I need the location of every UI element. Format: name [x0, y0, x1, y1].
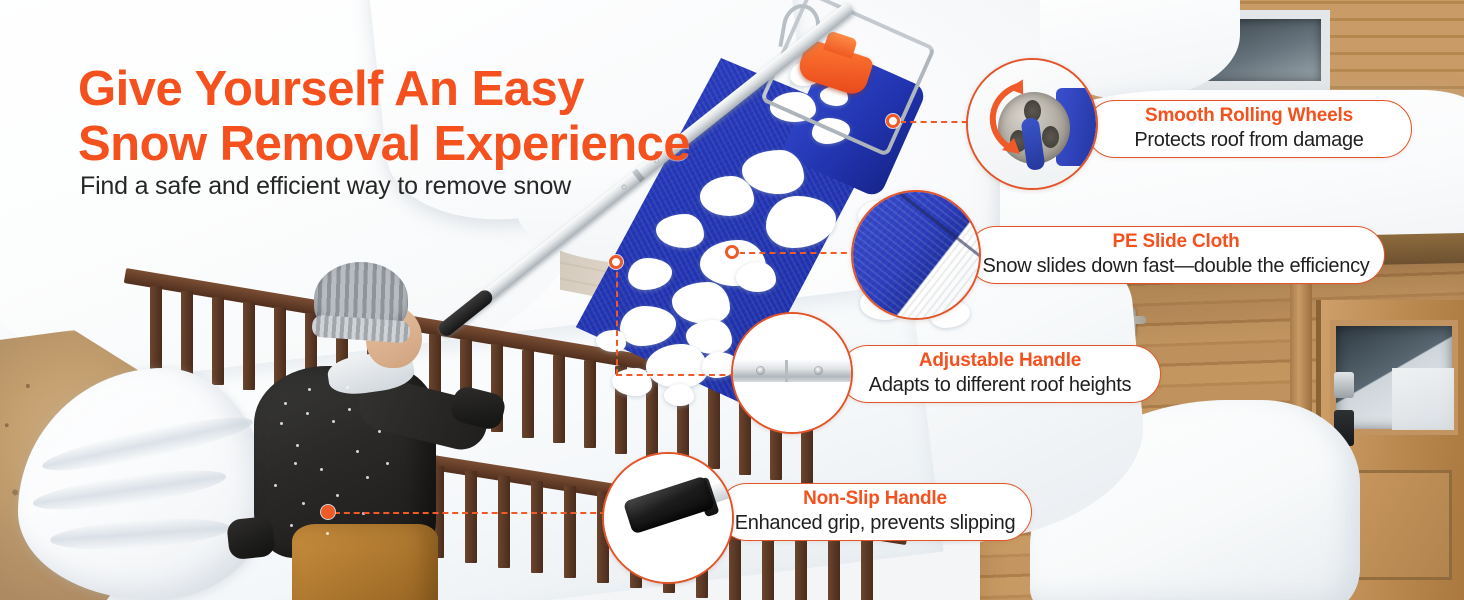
callout-title: Smooth Rolling Wheels	[1145, 106, 1353, 127]
snow-speck	[366, 476, 369, 479]
callout-desc: Adapts to different roof heights	[869, 373, 1131, 397]
snow-speck	[348, 408, 351, 411]
callout-pill-grip: Non-Slip Handle Enhanced grip, prevents …	[718, 483, 1032, 541]
snow-speck	[386, 462, 389, 465]
page-title: Give Yourself An Easy Snow Removal Exper…	[78, 62, 690, 172]
snow-chunk	[700, 176, 754, 216]
snow-chunk	[664, 384, 694, 406]
anchor-dot-grip	[321, 505, 335, 519]
anchor-dot-cloth	[725, 245, 739, 259]
pole-screw-1	[621, 184, 628, 191]
person-pants	[292, 524, 438, 600]
pe-fabric-icon	[851, 190, 981, 320]
handle-screw-1	[757, 367, 764, 374]
product-feature-banner: Give Yourself An Easy Snow Removal Exper…	[0, 0, 1464, 600]
handle-screw-2	[815, 367, 822, 374]
deck-baluster	[584, 360, 596, 448]
callout-desc: Protects roof from damage	[1134, 128, 1363, 152]
rubber-grip-icon	[602, 452, 734, 584]
snow-chunk	[736, 262, 776, 292]
rotation-arrow-icon	[974, 74, 1030, 158]
snow-speck	[326, 532, 329, 535]
deck-baluster	[564, 486, 576, 578]
grip-rubber-sleeve	[623, 476, 715, 535]
snow-chunk	[646, 344, 708, 388]
page-subtitle: Find a safe and efficient way to remove …	[80, 172, 571, 201]
snow-speck	[302, 502, 305, 505]
handle-joint-seam	[785, 360, 788, 382]
snow-speck	[336, 494, 339, 497]
roller-wheel-icon	[966, 58, 1098, 190]
callout-pill-handle: Adjustable Handle Adapts to different ro…	[839, 345, 1161, 403]
callout-pill-wheels: Smooth Rolling Wheels Protects roof from…	[1086, 100, 1412, 158]
leader-line-handle-vertical	[616, 262, 618, 375]
snow-speck	[332, 420, 335, 423]
callout-desc: Snow slides down fast—double the efficie…	[983, 254, 1370, 278]
snow-speck	[378, 430, 381, 433]
leader-line-handle	[616, 374, 746, 376]
callout-title: PE Slide Cloth	[1112, 232, 1239, 253]
deck-baluster	[861, 531, 873, 600]
telescoping-pole-icon	[731, 312, 853, 434]
snow-speck	[306, 412, 309, 415]
snow-speck	[290, 524, 293, 527]
callout-title: Adjustable Handle	[919, 351, 1081, 372]
deck-baluster	[522, 350, 534, 438]
callout-title: Non-Slip Handle	[803, 489, 947, 510]
handle-tube	[731, 360, 853, 382]
snow-speck	[320, 468, 323, 471]
leader-line-grip	[334, 512, 606, 514]
deck-baluster	[498, 476, 510, 568]
cabin-padlock	[1334, 372, 1354, 398]
snow-speck	[308, 388, 311, 391]
callout-desc: Enhanced grip, prevents slipping	[735, 511, 1016, 535]
deck-baluster	[212, 297, 224, 385]
callout-pill-cloth: PE Slide Cloth Snow slides down fast—dou…	[967, 226, 1385, 284]
leader-line-cloth	[739, 252, 857, 254]
snow-speck	[274, 484, 277, 487]
snow-speck	[294, 462, 297, 465]
wheel-hole-2	[1042, 126, 1059, 148]
cabin-window-pane	[1392, 368, 1454, 430]
snow-speck	[346, 386, 349, 389]
snow-speck	[296, 444, 299, 447]
deck-baluster	[150, 286, 162, 374]
deck-baluster	[531, 481, 543, 573]
snow-speck	[356, 450, 359, 453]
anchor-dot-wheels	[886, 114, 900, 128]
person-glove-lower	[226, 516, 276, 561]
snow-speck	[284, 402, 287, 405]
snow-speck	[280, 422, 283, 425]
deck-baluster	[181, 291, 193, 379]
anchor-dot-handle	[609, 255, 623, 269]
deck-baluster	[553, 355, 565, 443]
